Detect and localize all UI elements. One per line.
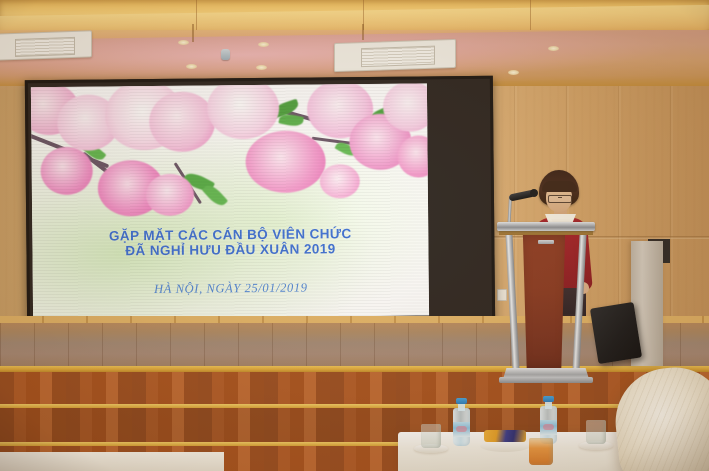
- podium-left-leg: [505, 234, 519, 371]
- ceiling-drop-rod: [192, 24, 194, 42]
- microphone-capsule: [530, 189, 538, 197]
- inverted-glass: [586, 420, 606, 444]
- bottle-label: [540, 420, 557, 435]
- ceiling-downlight: [178, 40, 189, 45]
- podium-nameplate: [538, 240, 554, 244]
- air-vent-slats: [15, 36, 76, 56]
- podium-right-leg: [572, 234, 586, 371]
- ceiling-downlight: [548, 46, 559, 51]
- ceiling-downlight: [508, 70, 519, 75]
- bottle-cap: [456, 398, 467, 404]
- air-vent: [334, 39, 456, 72]
- ceiling-sensor: [221, 49, 230, 60]
- tea-glass: [529, 438, 553, 465]
- podium-front-panel: [520, 234, 568, 369]
- projection-screen: GẶP MẶT CÁC CÁN BỘ VIÊN CHỨC ĐÃ NGHỈ HƯU…: [25, 76, 495, 329]
- podium-lectern-top: [497, 222, 595, 231]
- ceiling-downlight: [186, 64, 197, 69]
- photograph-scene: GẶP MẶT CÁC CÁN BỘ VIÊN CHỨC ĐÃ NGHỈ HƯU…: [0, 0, 709, 471]
- snack-packet: [484, 430, 526, 442]
- air-vent: [0, 30, 92, 60]
- ceiling-drop-rod: [362, 24, 364, 40]
- ceiling-downlight: [258, 42, 269, 47]
- peach-blossom: [320, 164, 360, 198]
- stage-step-upper: [0, 372, 709, 404]
- audience-table-left: [0, 452, 224, 471]
- air-vent-slats: [361, 45, 435, 67]
- speaker-glasses: [548, 195, 572, 203]
- peach-blossom: [40, 147, 92, 195]
- peach-blossom: [149, 91, 216, 152]
- ceiling-seam: [196, 0, 197, 30]
- projected-slide: GẶP MẶT CÁC CÁN BỘ VIÊN CHỨC ĐÃ NGHỈ HƯU…: [31, 83, 429, 319]
- inverted-glass: [421, 424, 441, 448]
- speaker-bangs: [542, 181, 577, 192]
- podium: [497, 222, 595, 385]
- bottle-cap: [543, 396, 554, 402]
- ceiling-seam: [530, 0, 531, 30]
- bottle-label: [453, 422, 470, 437]
- podium-foot-rail: [499, 377, 593, 383]
- stage-monitor-speaker: [590, 302, 642, 364]
- ceiling-downlight: [256, 65, 267, 70]
